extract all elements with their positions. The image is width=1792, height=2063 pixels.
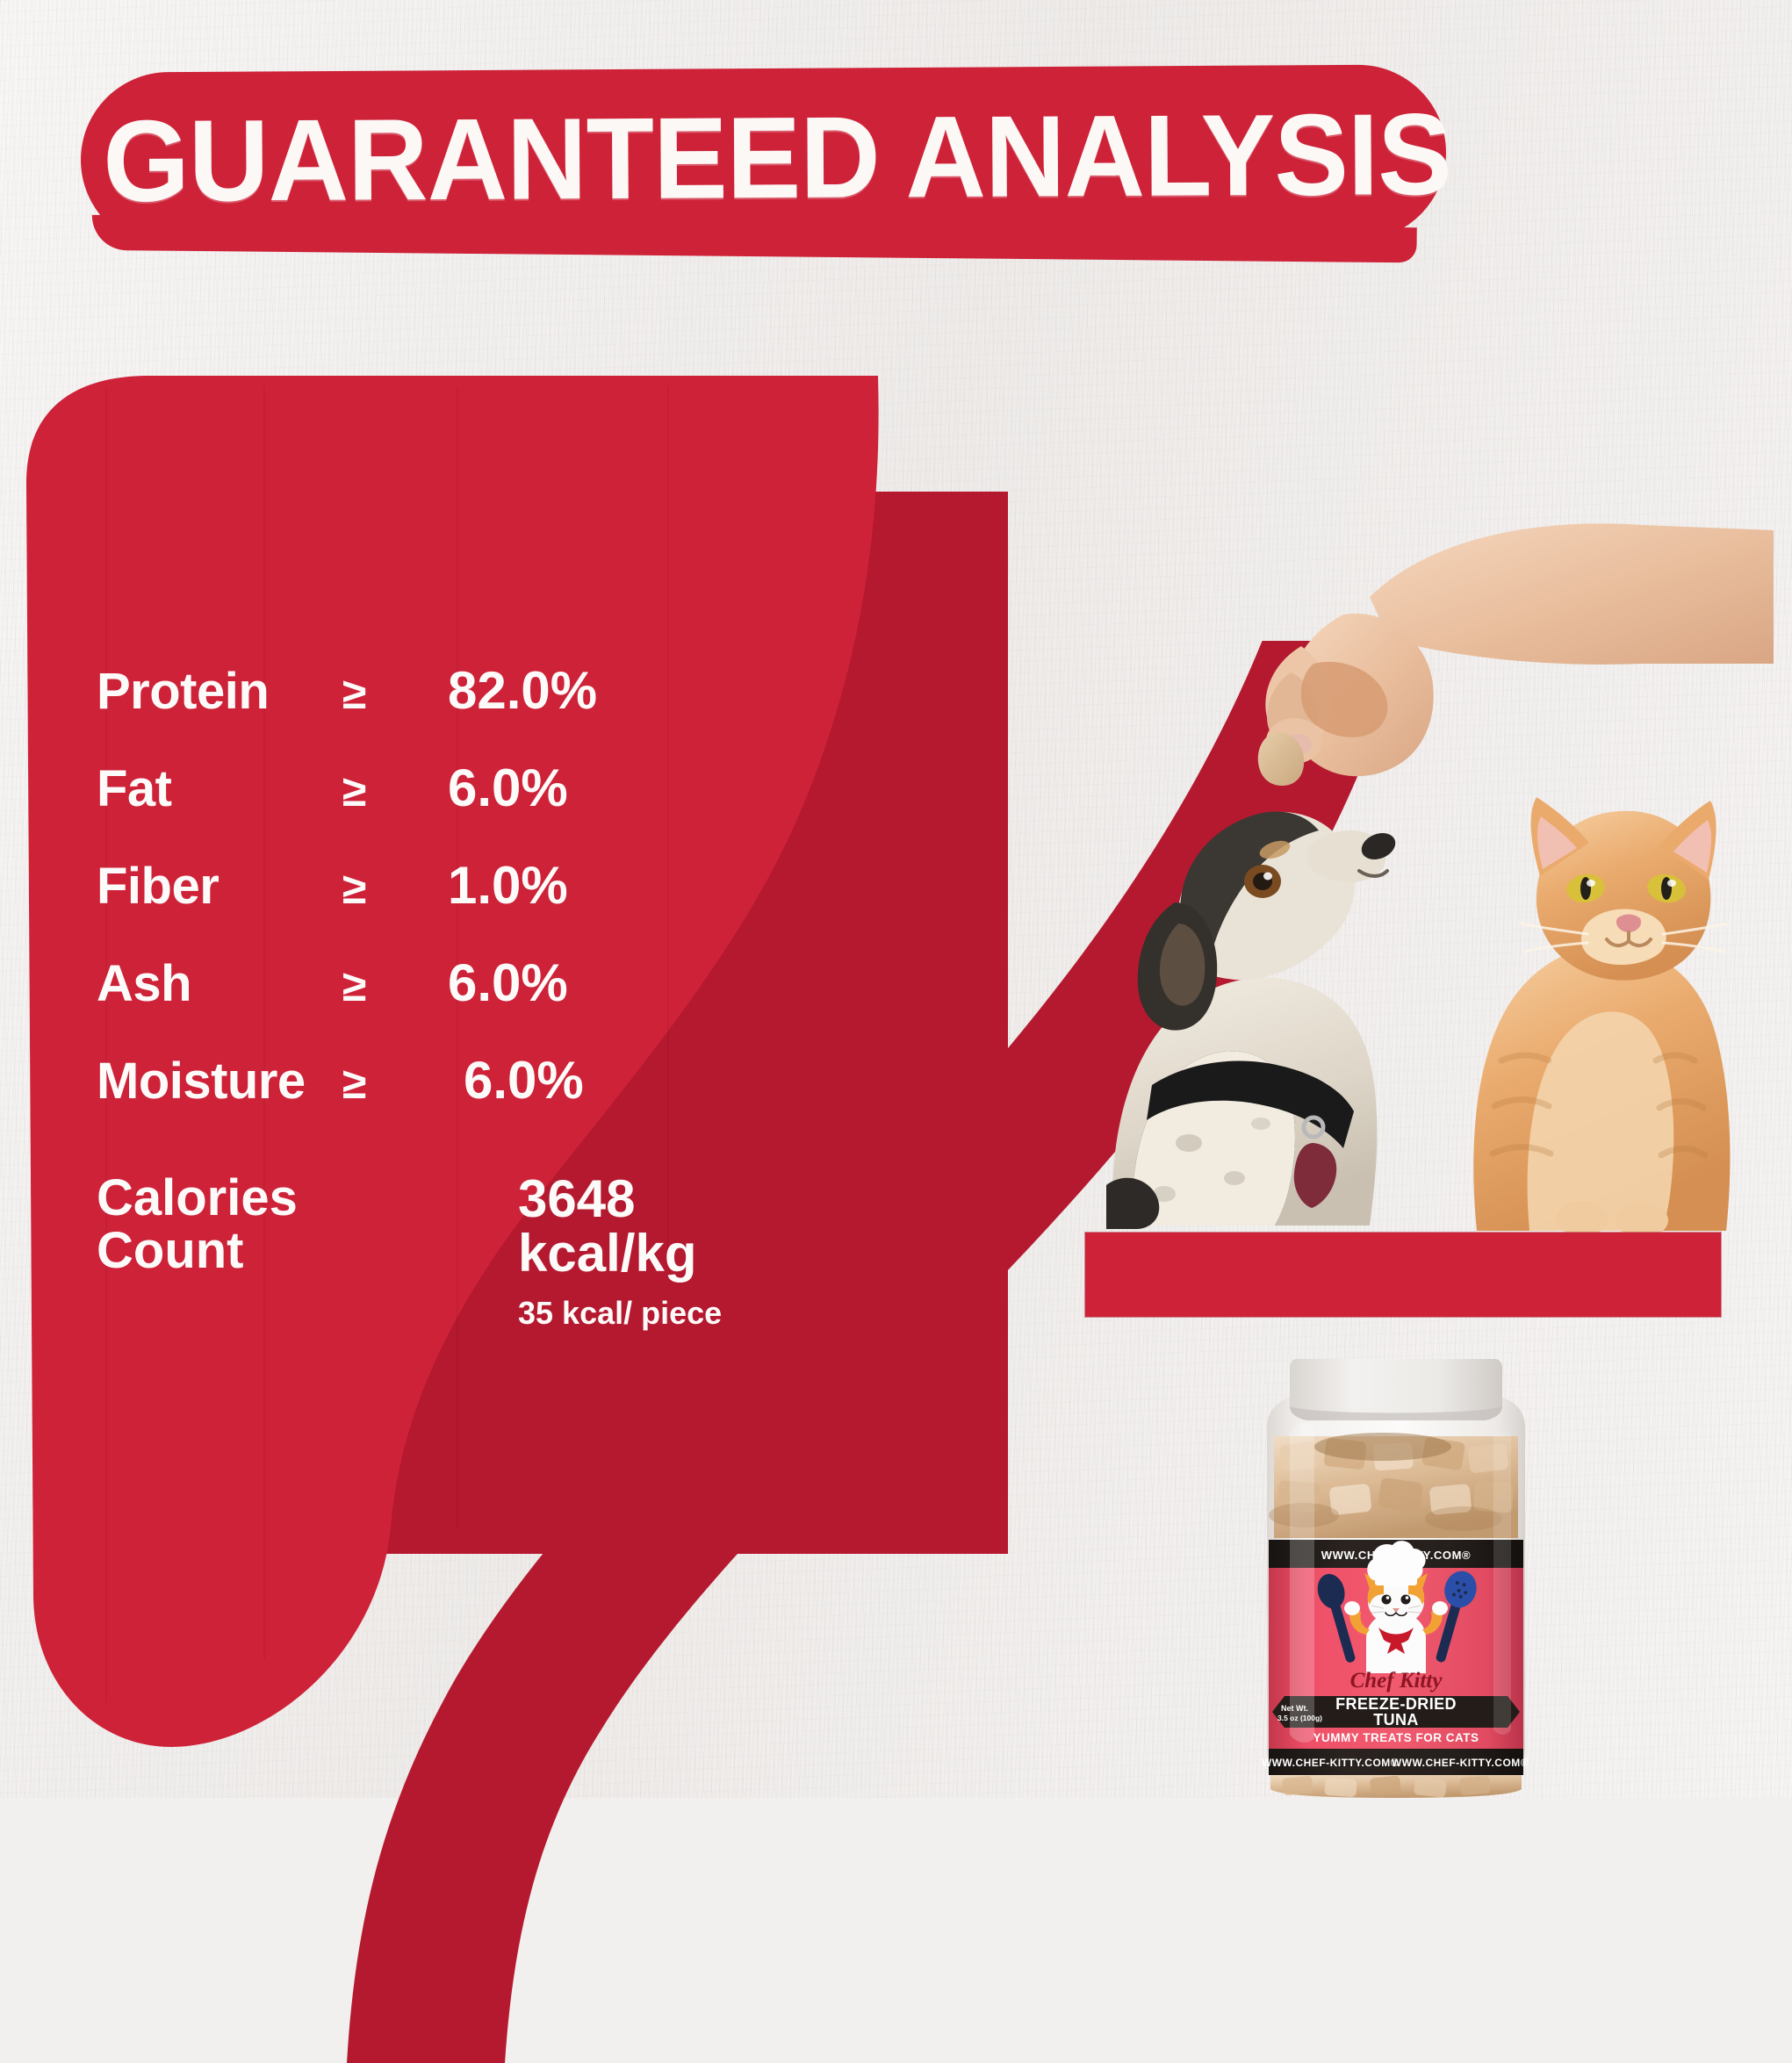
value-fiber: 1.0% — [448, 855, 799, 916]
jar-website-bottom-right: WWW.CHEF-KITTY.COM® — [1392, 1757, 1529, 1769]
jar-tagline: YUMMY TREATS FOR CATS — [1313, 1731, 1479, 1744]
value-ash: 6.0% — [448, 952, 799, 1013]
hand-with-treat-icon — [1258, 523, 1774, 786]
nutrient-label-protein: Protein — [97, 662, 342, 721]
calories-values: 3648 kcal/kg 35 kcal/ piece — [439, 1172, 869, 1329]
value-fat: 6.0% — [448, 758, 799, 818]
operator-ash: ≥ — [342, 960, 448, 1011]
nutrient-table: Protein ≥ 82.0% Fat ≥ 6.0% Fiber ≥ 1.0% … — [97, 660, 799, 1147]
nutrient-label-moisture: Moisture — [97, 1052, 342, 1111]
cat-figure — [1473, 797, 1730, 1238]
operator-fat: ≥ — [342, 766, 448, 816]
calories-per-piece: 35 kcal/ piece — [518, 1297, 869, 1329]
pets-photo — [1080, 492, 1774, 1247]
table-row: Ash ≥ 6.0% — [97, 952, 799, 1050]
nutrient-label-ash: Ash — [97, 954, 342, 1013]
calories-label-line2: Count — [97, 1225, 439, 1277]
operator-protein: ≥ — [342, 668, 448, 719]
table-row: Fiber ≥ 1.0% — [97, 855, 799, 952]
table-row: Fat ≥ 6.0% — [97, 758, 799, 855]
dog-figure — [1106, 811, 1400, 1229]
product-jar: WWW.CHEF-KITTY.COM® — [1251, 1352, 1541, 1798]
table-row: Protein ≥ 82.0% — [97, 660, 799, 758]
jar-flavor-line1: FREEZE-DRIED — [1335, 1695, 1457, 1713]
operator-moisture: ≥ — [342, 1058, 448, 1109]
nutrient-label-fiber: Fiber — [97, 857, 342, 916]
calories-label: Calories Count — [97, 1172, 439, 1329]
operator-fiber: ≥ — [342, 863, 448, 914]
value-moisture: 6.0% — [448, 1050, 799, 1111]
nutrient-label-fat: Fat — [97, 759, 342, 818]
calories-unit: kcal/kg — [518, 1226, 869, 1281]
calories-block: Calories Count 3648 kcal/kg 35 kcal/ pie… — [97, 1172, 869, 1329]
calories-value: 3648 — [518, 1172, 869, 1226]
red-shelf-bar — [1085, 1233, 1721, 1317]
calories-label-line1: Calories — [97, 1172, 439, 1225]
jar-brand-text: Chef Kitty — [1350, 1669, 1443, 1693]
page-title: GUARANTEED ANALYSIS — [132, 70, 1422, 244]
table-row: Moisture ≥ 6.0% — [97, 1050, 799, 1147]
value-protein: 82.0% — [448, 660, 799, 721]
jar-website-bottom-left: WWW.CHEF-KITTY.COM® — [1262, 1757, 1399, 1769]
jar-flavor-line2: TUNA — [1373, 1711, 1419, 1729]
